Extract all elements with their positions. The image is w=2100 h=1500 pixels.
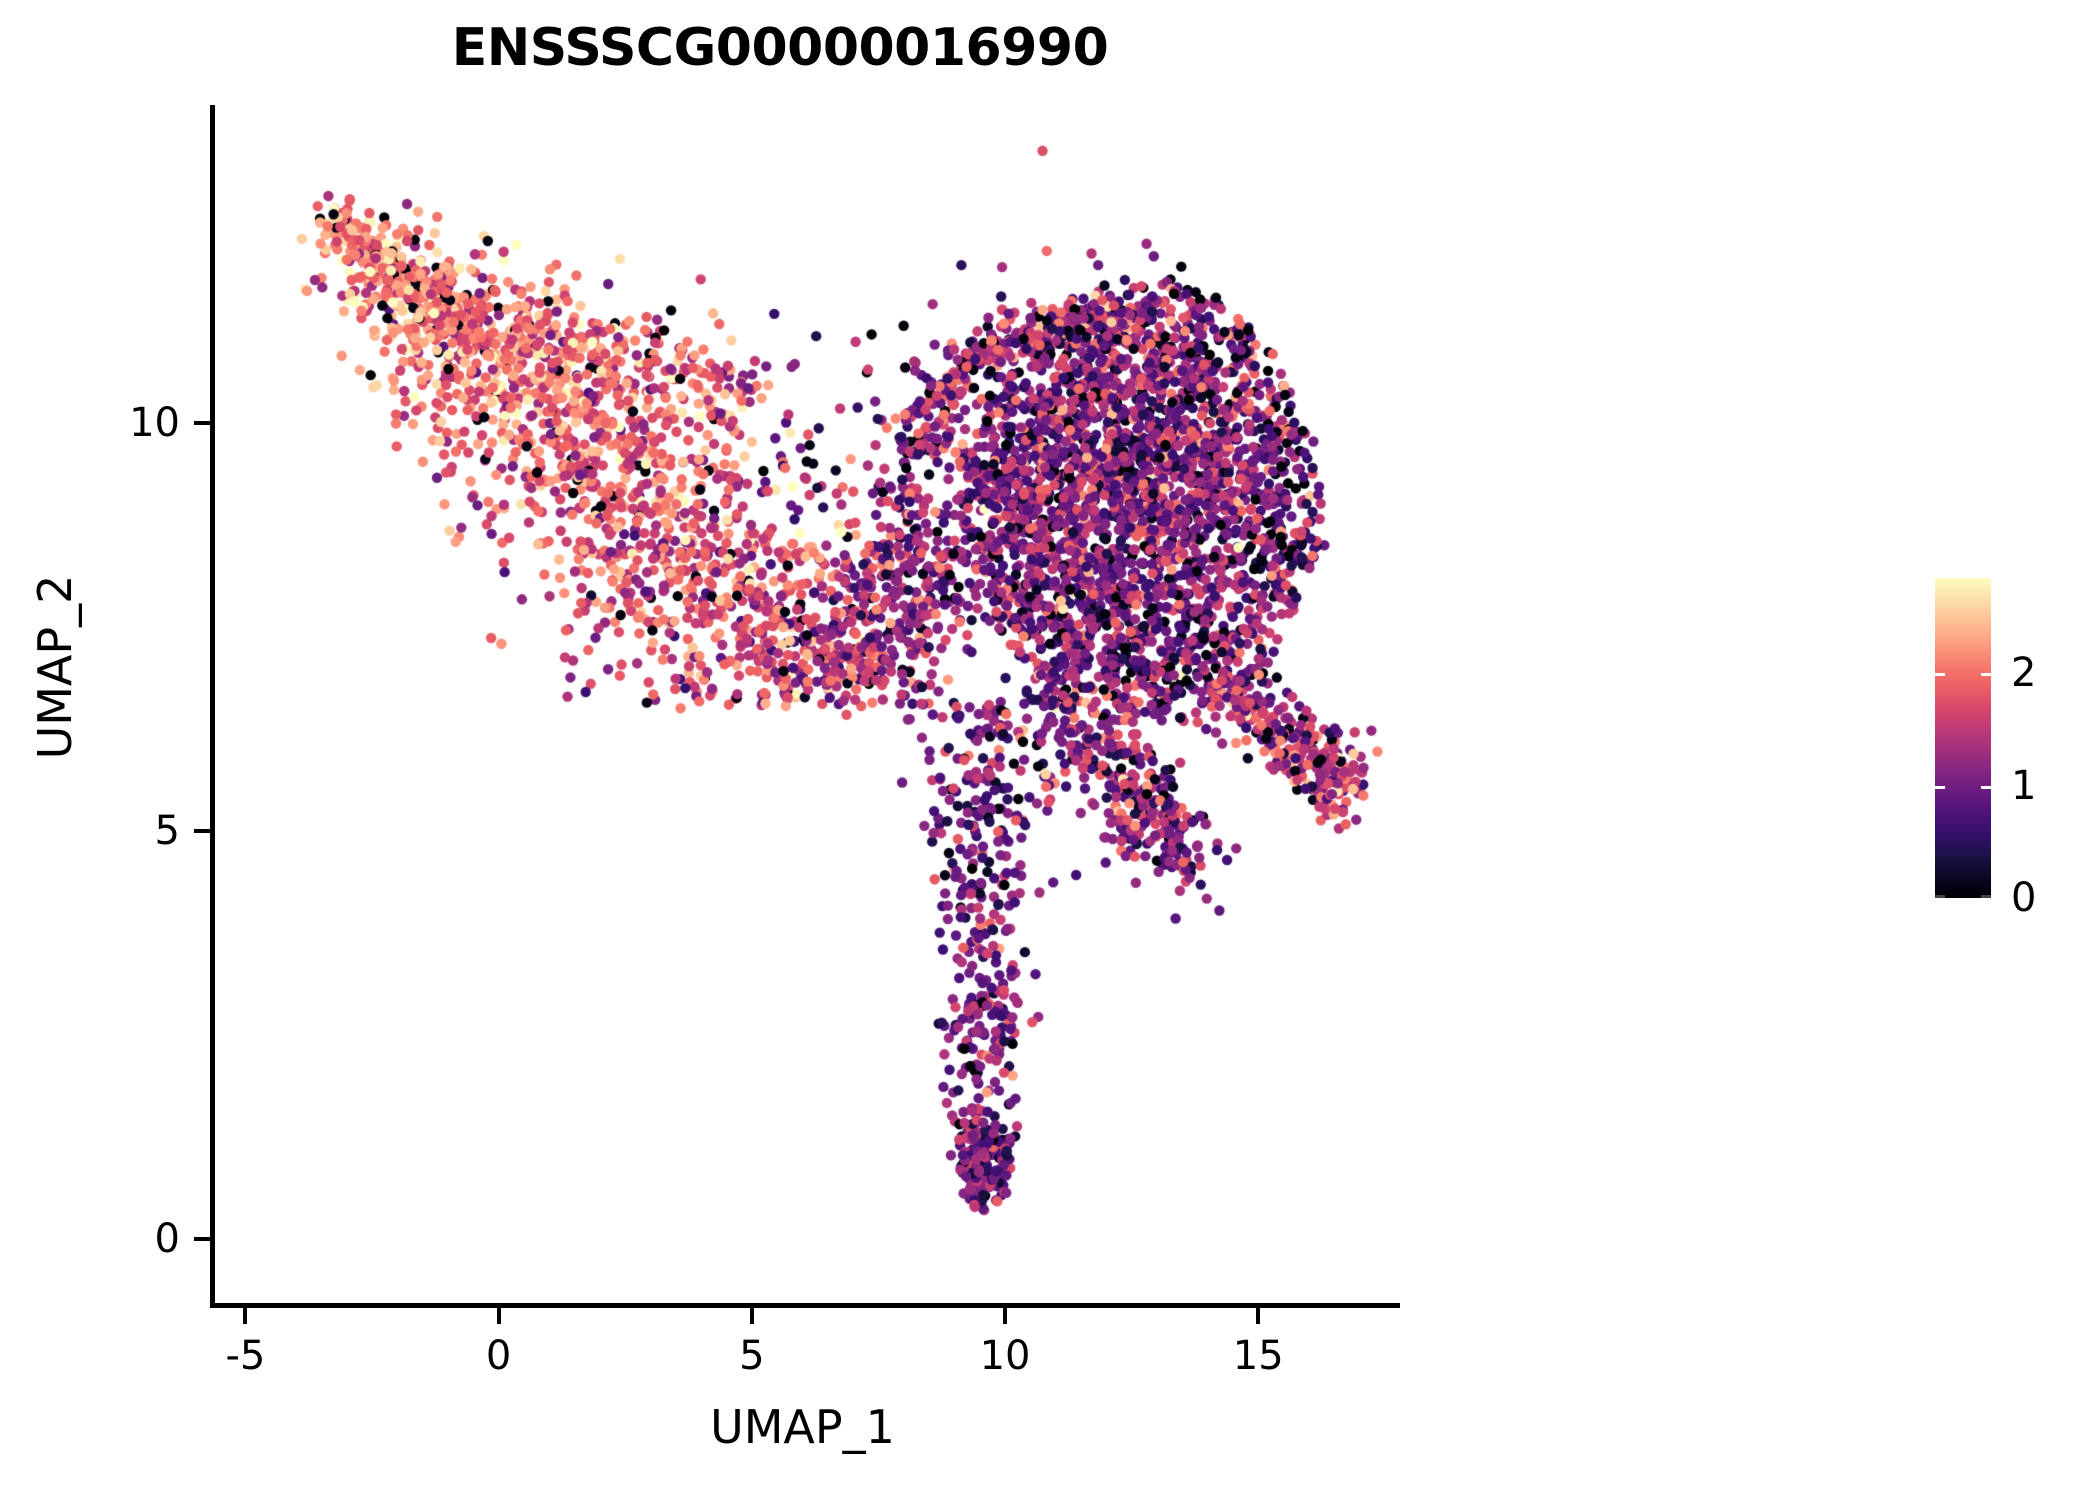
x-tick-label: -5 — [225, 1333, 265, 1379]
colorbar-tick-label: 1 — [2011, 763, 2036, 809]
y-tick-mark — [194, 1237, 210, 1241]
x-tick-mark — [497, 1308, 501, 1324]
page-title: ENSSSCG00000016990 — [0, 18, 1560, 78]
y-tick-label: 5 — [155, 808, 180, 854]
x-tick-label: 0 — [486, 1333, 511, 1379]
scatter-points-layer — [210, 105, 1400, 1308]
x-tick-mark — [243, 1308, 247, 1324]
y-tick-mark — [194, 421, 210, 425]
colorbar-tick-mark — [1935, 895, 1991, 898]
colorbar-tick-mark — [1935, 786, 1991, 789]
x-tick-mark — [1256, 1308, 1260, 1324]
y-axis-spine — [210, 105, 215, 1308]
y-tick-mark — [194, 829, 210, 833]
colorbar-tick-label: 0 — [2011, 875, 2036, 921]
x-axis-spine — [210, 1303, 1400, 1308]
plot-axes: -5051015 0510 — [210, 105, 1395, 1305]
x-tick-mark — [1003, 1308, 1007, 1324]
x-axis-label: UMAP_1 — [210, 1400, 1395, 1454]
colorbar-tick-mark — [1935, 673, 1991, 676]
colorbar: 012 — [1935, 578, 2095, 900]
x-tick-mark — [750, 1308, 754, 1324]
x-tick-label: 5 — [739, 1333, 764, 1379]
x-tick-label: 10 — [980, 1333, 1031, 1379]
x-tick-label: 15 — [1233, 1333, 1284, 1379]
umap-feature-plot: ENSSSCG00000016990 -5051015 0510 UMAP_1 … — [0, 0, 2100, 1500]
colorbar-gradient — [1935, 578, 1991, 898]
y-axis-label: UMAP_2 — [28, 367, 82, 967]
y-tick-label: 10 — [129, 400, 180, 446]
y-tick-label: 0 — [155, 1216, 180, 1262]
colorbar-tick-label: 2 — [2011, 650, 2036, 696]
